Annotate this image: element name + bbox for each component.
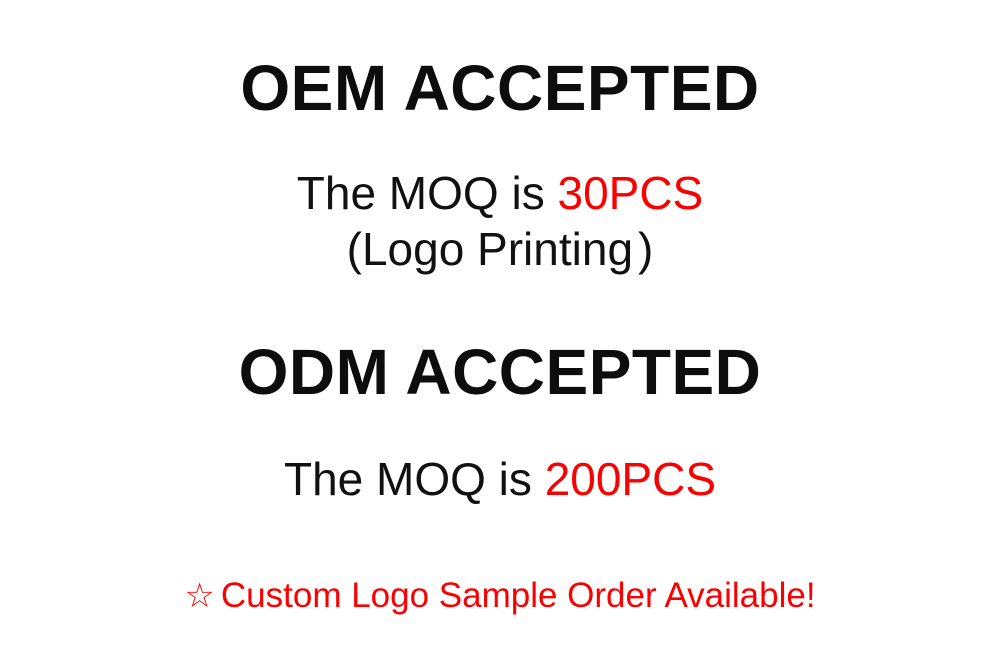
star-outline-icon: ☆ <box>184 579 214 613</box>
logo-printing-note-open: (Logo Printing <box>347 223 633 275</box>
odm-moq-quantity: 200PCS <box>545 453 716 505</box>
odm-accepted-heading: ODM ACCEPTED <box>0 340 1000 404</box>
odm-moq-line: The MOQ is 200PCS <box>0 456 1000 502</box>
custom-logo-sample-promo: ☆Custom Logo Sample Order Available! <box>0 578 1000 613</box>
oem-odm-banner: OEM ACCEPTED The MOQ is 30PCS (Logo Prin… <box>0 0 1000 652</box>
logo-printing-note-close: ) <box>638 223 653 275</box>
oem-moq-prefix: The MOQ is <box>297 167 558 219</box>
oem-logo-printing-note: (Logo Printing) <box>0 226 1000 272</box>
odm-moq-prefix: The MOQ is <box>284 453 545 505</box>
oem-moq-quantity: 30PCS <box>557 167 703 219</box>
oem-accepted-heading: OEM ACCEPTED <box>0 56 1000 120</box>
oem-moq-line: The MOQ is 30PCS <box>0 170 1000 216</box>
custom-logo-sample-promo-text: Custom Logo Sample Order Available! <box>221 576 816 615</box>
